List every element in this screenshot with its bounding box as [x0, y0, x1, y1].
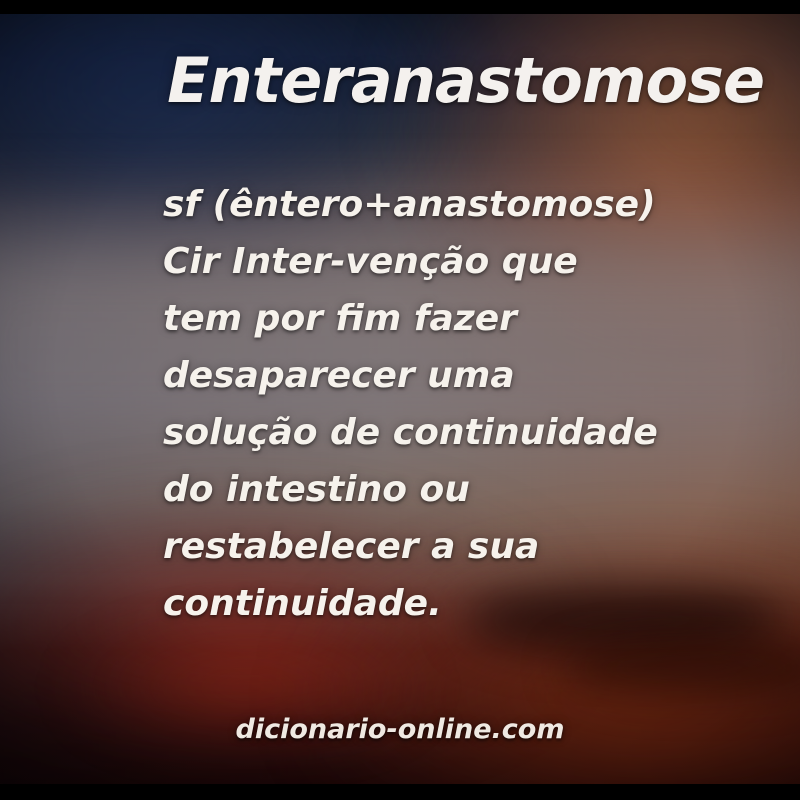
headword-title: Enteranastomose [0, 44, 764, 117]
definition-line: desaparecer uma [163, 347, 683, 404]
definition-block: sf (êntero+anastomose) Cir Inter-venção … [163, 176, 683, 632]
letterbox-bar-bottom [0, 784, 800, 800]
definition-line: sf (êntero+anastomose) [163, 176, 683, 233]
definition-line: tem por fim fazer [163, 290, 683, 347]
source-watermark: dicionario-online.com [0, 714, 800, 745]
definition-line: restabelecer a sua [163, 518, 683, 575]
definition-line: Cir Inter-venção que [163, 233, 683, 290]
card-content: Enteranastomose sf (êntero+anastomose) C… [0, 0, 800, 800]
letterbox-bar-top [0, 0, 800, 14]
definition-line: continuidade. [163, 575, 683, 632]
definition-line: solução de continuidade [163, 404, 683, 461]
dictionary-definition-card: Enteranastomose sf (êntero+anastomose) C… [0, 0, 800, 800]
definition-line: do intestino ou [163, 461, 683, 518]
